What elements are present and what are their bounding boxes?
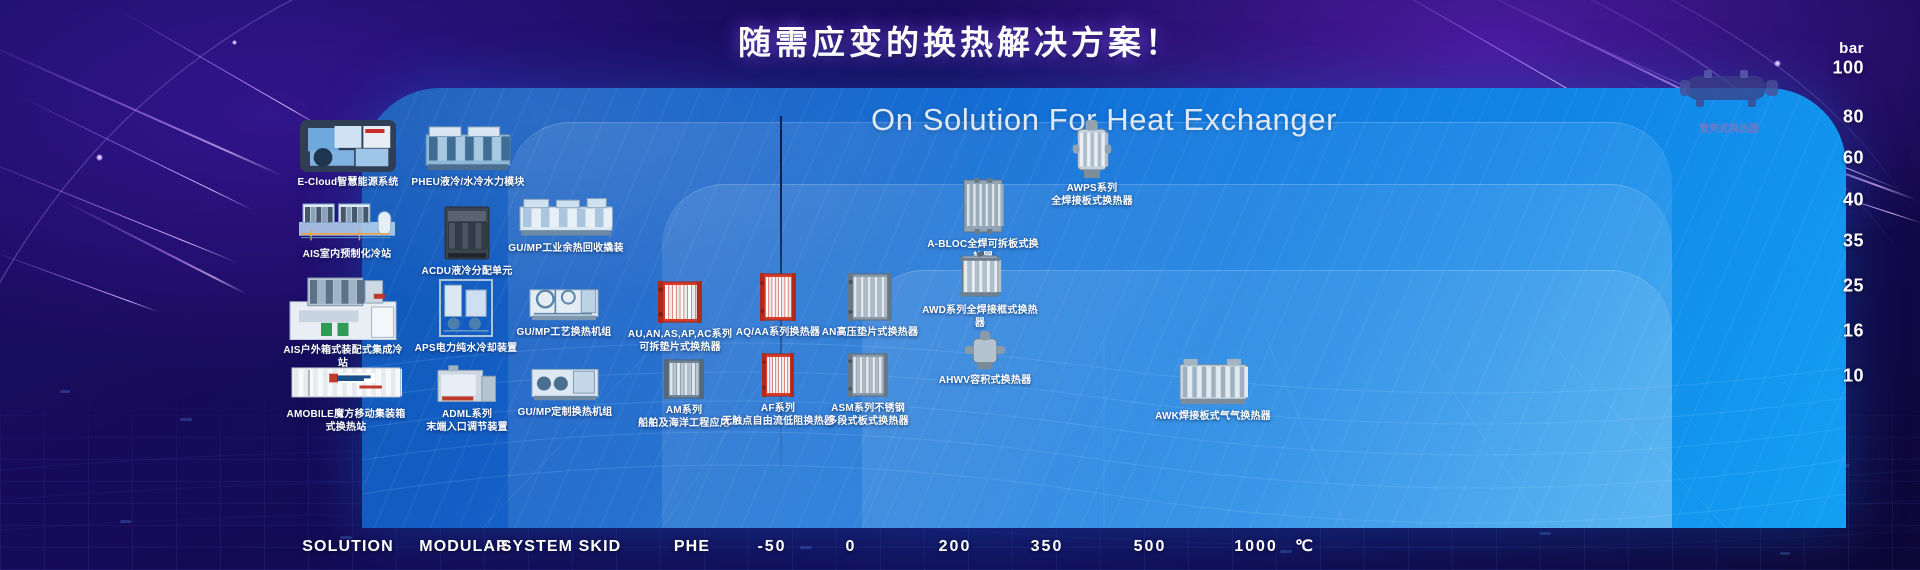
product-thumbnail-aq-aa: [760, 272, 796, 322]
product-thumbnail-acdu: [443, 205, 491, 261]
product-label-e-cloud: E-Cloud智慧能源系统: [288, 176, 408, 189]
product-thumbnail-amobile: [290, 360, 402, 404]
product-thumbnail-e-cloud: [300, 120, 396, 172]
axis-y-tick-2: 60: [1843, 148, 1864, 169]
custom-unit-icon: [530, 358, 600, 402]
product-thumbnail-gump-proc: [528, 276, 600, 322]
axis-x: SOLUTIONMODULARSYSTEM SKIDPHE-5002003505…: [0, 530, 1920, 556]
product-item-pheu[interactable]: PHEU液冷/水冷水力模块: [408, 124, 528, 189]
cabinet-icon: [443, 205, 491, 261]
product-thumbnail-awk: [1178, 358, 1248, 406]
axis-x-tick-0: SOLUTION: [302, 538, 393, 556]
axis-y-tick-6: 16: [1843, 321, 1864, 342]
product-item-gump-waste[interactable]: GU/MP工业余热回收撬装: [506, 196, 626, 255]
shell-tube-icon: [1674, 66, 1784, 110]
product-label-amobile: AMOBILE魔方移动集装箱式换热站: [286, 408, 406, 434]
product-thumbnail-ais-indoor: [295, 198, 399, 244]
product-thumbnail-awd: [958, 252, 1002, 300]
axis-x-tick-2: SYSTEM SKID: [501, 538, 622, 556]
product-label-gump-cust: GU/MP定制换热机组: [505, 406, 625, 419]
product-label-asm-series: ASM系列不锈钢 多段式板式换热器: [808, 402, 928, 428]
phe-grey2-icon: [848, 352, 888, 398]
product-thumbnail-af-series: [762, 352, 794, 398]
product-thumbnail-awps: [1072, 120, 1112, 178]
product-item-amobile[interactable]: AMOBILE魔方移动集装箱式换热站: [286, 360, 406, 434]
product-label-awk: AWK焊接板式气气换热器: [1153, 410, 1273, 423]
product-thumbnail-ais-outdoor: [288, 274, 398, 340]
product-label-awps: AWPS系列 全焊接板式换热器: [1032, 182, 1152, 208]
awd-icon: [958, 252, 1002, 300]
product-label-awd: AWD系列全焊接框式换热器: [920, 304, 1040, 330]
phe-blue-icon: [664, 358, 704, 400]
product-thumbnail-gump-waste: [518, 196, 614, 238]
axis-x-unit: ℃: [1295, 536, 1315, 556]
product-item-e-cloud[interactable]: E-Cloud智慧能源系统: [288, 120, 408, 189]
ahwv-icon: [964, 330, 1006, 370]
axis-x-tick-8: 500: [1134, 538, 1167, 556]
product-thumbnail-adml: [436, 362, 498, 404]
shell-tube-exhibit: 管壳式换热器: [1664, 66, 1794, 135]
shell-tube-label: 管壳式换热器: [1664, 120, 1794, 135]
axis-x-tick-6: 200: [939, 538, 972, 556]
axis-x-tick-5: 0: [846, 538, 857, 556]
product-label-aps: APS电力纯水冷却装置: [406, 342, 526, 355]
product-item-gump-cust[interactable]: GU/MP定制换热机组: [505, 358, 625, 419]
process-unit-icon: [528, 276, 600, 322]
axis-y: bar 10080604035251610: [1816, 46, 1902, 466]
axis-y-tick-4: 35: [1843, 231, 1864, 252]
product-thumbnail-a-bloc: [962, 178, 1004, 234]
product-thumbnail-asm-series: [848, 352, 888, 398]
product-thumbnail-aps: [438, 278, 494, 338]
phe-red2-icon: [760, 272, 796, 322]
axis-y-tick-5: 25: [1843, 276, 1864, 297]
product-item-asm-series[interactable]: ASM系列不锈钢 多段式板式换热器: [808, 352, 928, 428]
axis-y-tick-7: 10: [1843, 366, 1864, 387]
product-label-gump-proc: GU/MP工艺换热机组: [504, 326, 624, 339]
product-item-awps[interactable]: AWPS系列 全焊接板式换热器: [1032, 120, 1152, 208]
product-item-awd[interactable]: AWD系列全焊接框式换热器: [920, 252, 1040, 330]
product-item-ahwv[interactable]: AHWV容积式换热器: [925, 330, 1045, 387]
page-title: 随需应变的换热解决方案！: [0, 16, 1920, 64]
phe-red3-icon: [762, 352, 794, 398]
product-label-pheu: PHEU液冷/水冷水力模块: [408, 176, 528, 189]
module-rack-icon: [424, 124, 512, 172]
axis-y-unit: bar: [1839, 40, 1864, 57]
outdoor-station-icon: [288, 274, 398, 340]
valve-box-icon: [436, 362, 498, 404]
product-item-an-series[interactable]: AN高压垫片式换热器: [810, 272, 930, 339]
product-label-ahwv: AHWV容积式换热器: [925, 374, 1045, 387]
product-label-an-series: AN高压垫片式换热器: [810, 326, 930, 339]
container-icon: [290, 360, 402, 404]
axis-y-tick-0: 100: [1832, 58, 1864, 79]
axis-y-tick-3: 40: [1843, 190, 1864, 211]
awps-icon: [1072, 120, 1112, 178]
axis-x-tick-3: PHE: [674, 538, 710, 556]
bloc-icon: [962, 178, 1004, 234]
banner-stage: 随需应变的换热解决方案！ On Solution For Heat Exchan…: [0, 0, 1920, 570]
product-thumbnail-au-series: [658, 280, 702, 324]
phe-grey-icon: [848, 272, 892, 322]
product-thumbnail-gump-cust: [530, 358, 600, 402]
skid-frame-icon: [438, 278, 494, 338]
phe-red-icon: [658, 280, 702, 324]
product-thumbnail-pheu: [424, 124, 512, 172]
product-thumbnail-ahwv: [964, 330, 1006, 370]
product-label-gump-waste: GU/MP工业余热回收撬装: [506, 242, 626, 255]
axis-x-tick-7: 350: [1031, 538, 1064, 556]
axis-y-tick-1: 80: [1843, 107, 1864, 128]
product-item-gump-proc[interactable]: GU/MP工艺换热机组: [504, 276, 624, 339]
product-label-ais-indoor: AIS室内预制化冷站: [287, 248, 407, 261]
axis-x-tick-9: 1000: [1234, 538, 1278, 556]
product-thumbnail-an-series: [848, 272, 892, 322]
product-item-ais-indoor[interactable]: AIS室内预制化冷站: [287, 198, 407, 261]
axis-x-tick-4: -50: [757, 538, 786, 556]
awk-icon: [1178, 358, 1248, 406]
product-item-awk[interactable]: AWK焊接板式气气换热器: [1153, 358, 1273, 423]
product-item-ais-outdoor[interactable]: AIS户外箱式装配式集成冷站: [283, 274, 403, 370]
axis-x-tick-1: MODULAR: [419, 538, 508, 556]
chiller-plant-icon: [295, 198, 399, 244]
product-thumbnail-am-series: [664, 358, 704, 400]
long-skid-icon: [518, 196, 614, 238]
monitor-room-icon: [300, 120, 396, 172]
